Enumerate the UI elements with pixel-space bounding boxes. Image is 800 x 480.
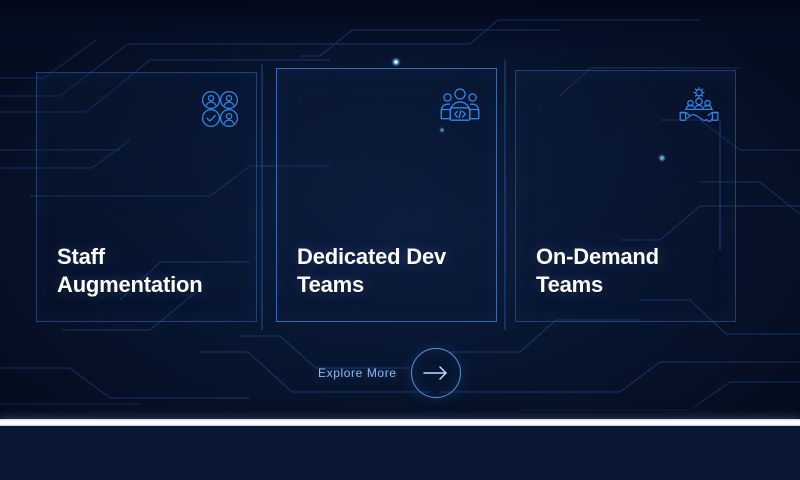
card-title: On-Demand Teams [536,243,719,299]
card-title: Dedicated Dev Teams [297,243,480,299]
service-card-dedicated-dev-teams[interactable]: Dedicated Dev Teams [276,68,497,322]
handshake-team-icon [677,85,721,129]
card-title: Staff Augmentation [57,243,240,299]
dev-team-code-icon [438,83,482,127]
bar-top-shade [0,398,800,419]
arrow-right-icon [423,365,449,381]
explore-more-cta[interactable]: Explore More [318,348,461,398]
bottom-panel [0,426,800,480]
white-divider-bar [0,419,800,426]
explore-more-label: Explore More [318,366,397,380]
explore-more-arrow-button[interactable] [411,348,461,398]
service-card-staff-augmentation[interactable]: Staff Augmentation [36,72,257,322]
banner-stage: Staff Augmentation D [0,0,800,480]
service-card-on-demand-teams[interactable]: On-Demand Teams [515,70,736,322]
people-grid-check-icon [198,87,242,131]
